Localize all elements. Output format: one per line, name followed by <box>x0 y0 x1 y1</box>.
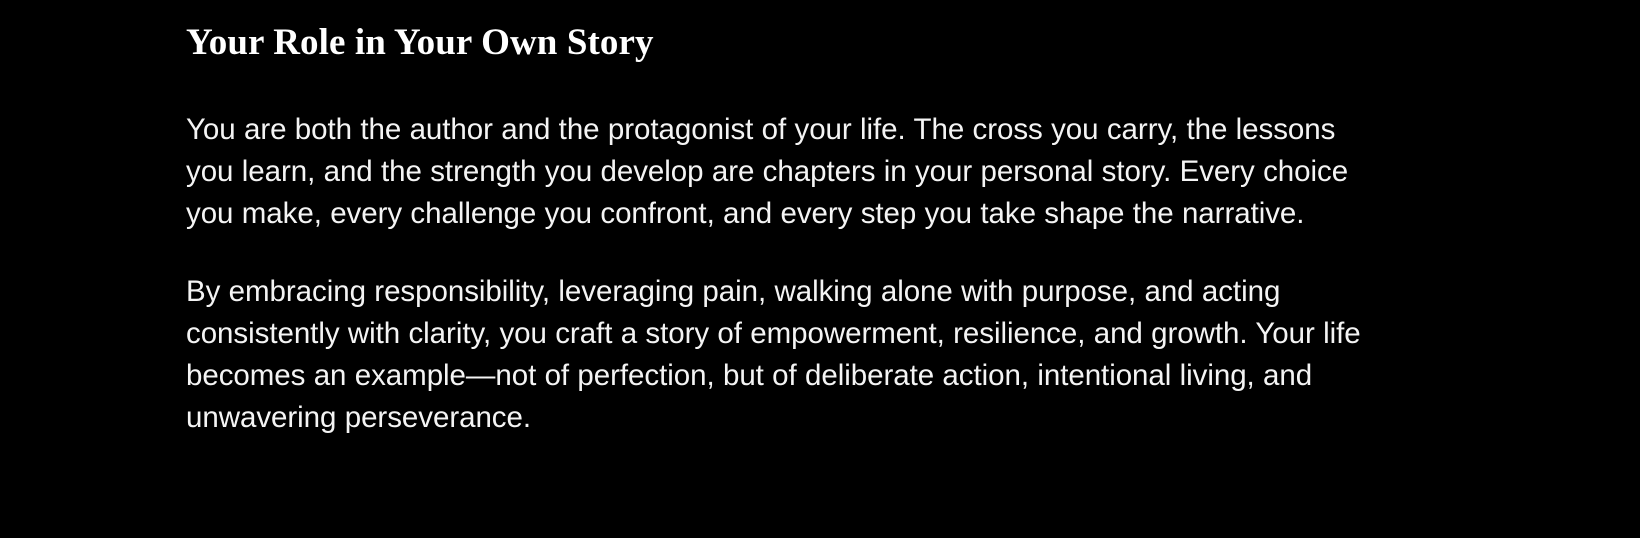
paragraph-responsibility: By embracing responsibility, leveraging … <box>186 271 1371 439</box>
page-title: Your Role in Your Own Story <box>186 21 1371 65</box>
article-body: Your Role in Your Own Story You are both… <box>186 0 1371 439</box>
paragraph-authorship: You are both the author and the protagon… <box>186 109 1371 235</box>
